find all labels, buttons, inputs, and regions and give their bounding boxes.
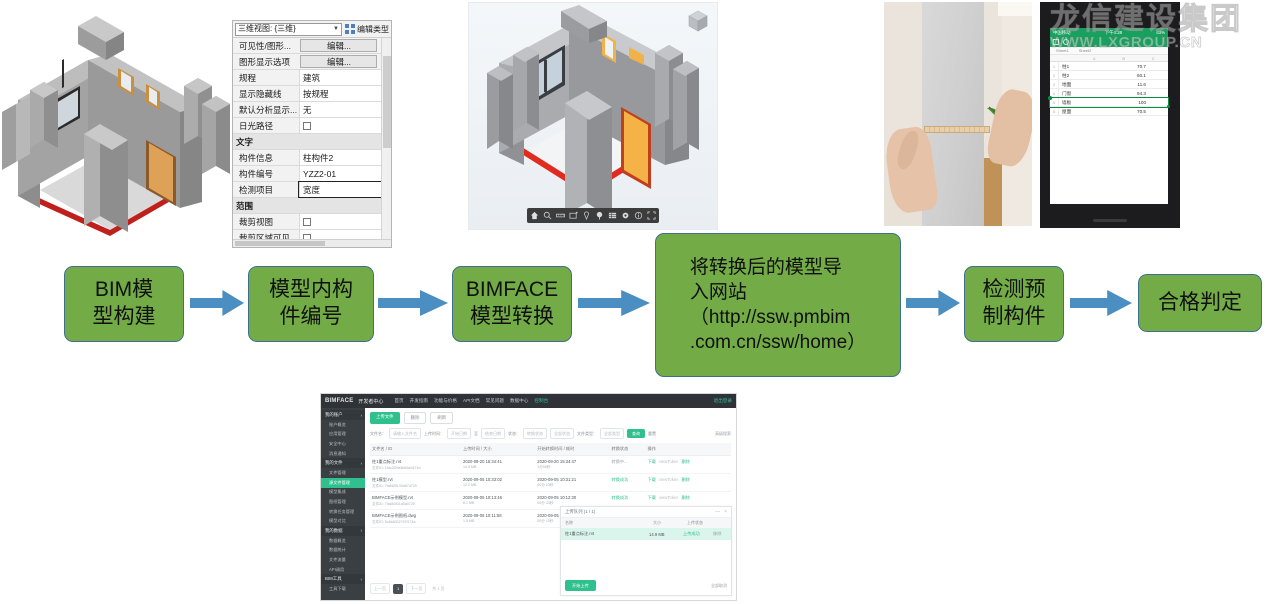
sidebar-item-19[interactable]: 工具下载: [321, 584, 365, 594]
property-label: 可见性/图形...: [233, 38, 299, 53]
filter-input-6[interactable]: 结束日期: [481, 428, 505, 439]
filter-label-1: 文件名：: [370, 431, 386, 437]
status-badge: 转换中...: [610, 456, 646, 474]
action-link-1[interactable]: 下载: [648, 459, 656, 464]
cell-converted: 2020-09-05 10:31:2100分 23秒: [535, 474, 609, 492]
section-label: 范围: [236, 200, 253, 212]
view-selector-dropdown[interactable]: 三维视图: {三维} ▼: [235, 23, 342, 36]
status-battery: 83%: [1156, 30, 1165, 35]
flow-step-2: 模型内构 件编号: [248, 266, 374, 342]
filter-label-3: 上传时间：: [424, 431, 444, 437]
bimface-3d-viewer[interactable]: [468, 2, 718, 230]
sidebar-group-label: 我的文件: [325, 460, 343, 466]
sidebar-group-label: BIM工具: [325, 576, 342, 582]
search-icon[interactable]: [543, 211, 552, 220]
property-row-main-2[interactable]: 规程建筑: [233, 70, 391, 86]
scrollbar-thumb[interactable]: [383, 56, 391, 148]
row-number: 1: [1050, 62, 1059, 70]
cell-file: BIMFACE示例模型.rvt文件ID: 7fa683f21a5a0729: [370, 492, 461, 510]
cell-actions[interactable]: 下载viewToken删除: [646, 474, 732, 492]
status-badge: 转换成功: [610, 474, 646, 492]
row-number: 6: [1050, 107, 1059, 115]
row-label: 柱2: [1059, 71, 1093, 79]
spreadsheet-rows: 1柱170.72柱260.13地面11.64门窗94.35墙板1006屋面70.…: [1050, 62, 1168, 116]
property-label: 构件信息: [233, 150, 299, 165]
sidebar-item-5[interactable]: 消息通知: [321, 449, 365, 459]
upload-table-header: 名称 大小 上传状态: [561, 518, 731, 528]
sidebar-item-7[interactable]: 文件管理: [321, 468, 365, 478]
sidebar-item-11[interactable]: 转换任务管理: [321, 507, 365, 517]
site-nav-item-6[interactable]: 数据中心: [510, 398, 528, 404]
edit-type-label: 编辑类型: [357, 24, 389, 35]
revit-properties-panel[interactable]: 三维视图: {三维} ▼ 编辑类型 可见性/图形...编辑...图形显示选项编辑…: [232, 20, 392, 248]
grid-icon: [345, 24, 355, 34]
upload-panel-header: 上传队列 (1 / 1) — ×: [561, 507, 731, 518]
section-label: 文字: [236, 136, 253, 148]
row-number: 5: [1050, 98, 1059, 106]
tape-measure-band: [924, 126, 990, 133]
property-value[interactable]: 按规程: [299, 86, 391, 101]
chevron-down-icon[interactable]: ›: [361, 528, 362, 533]
phone-status-bar: 中国移动 下午4:38 83%: [1050, 28, 1168, 37]
filter-input-11[interactable]: 全部类型: [600, 428, 624, 439]
table-header-1: 文件名 / ID: [370, 443, 461, 456]
flow-step-label: 检测预 制构件: [983, 277, 1046, 331]
sidebar-item-17[interactable]: API调用: [321, 565, 365, 575]
properties-rows: 可见性/图形...编辑...图形显示选项编辑...规程建筑显示隐藏线按规程默认分…: [233, 38, 391, 248]
logout-link[interactable]: 退出登录: [714, 398, 732, 404]
close-icon[interactable]: ×: [724, 509, 727, 515]
spreadsheet-appbar[interactable]: [1050, 37, 1168, 47]
cell-file: 柱1模型.rvt文件ID: 7fa683f139d87d729: [370, 474, 461, 492]
slide-canvas: 三维视图: {三维} ▼ 编辑类型 可见性/图形...编辑...图形显示选项编辑…: [0, 0, 1269, 604]
reset-link[interactable]: 重置: [648, 431, 656, 437]
property-value[interactable]: [299, 214, 391, 229]
flow-step-4: 将转换后的模型导 入网站 （http://ssw.pmbim .com.cn/s…: [655, 233, 901, 377]
site-button-1[interactable]: 上传文件: [370, 412, 400, 424]
property-value[interactable]: [299, 118, 391, 133]
property-value[interactable]: 柱构件2: [299, 150, 391, 165]
chevron-down-icon: ▼: [333, 23, 339, 35]
home-indicator: [1093, 219, 1127, 222]
cell-uploaded: 2020-09-05 10:13:466.1 MB: [461, 492, 535, 510]
upload-file-status: 上传成功: [683, 531, 713, 537]
action-link-1[interactable]: 下载: [648, 495, 656, 500]
property-section-range[interactable]: 范围≈: [233, 198, 391, 214]
fullscreen-icon[interactable]: [647, 211, 656, 220]
spreadsheet-row[interactable]: 1柱170.7: [1050, 62, 1168, 71]
col-head-1: A: [1080, 55, 1110, 61]
grid-icon[interactable]: [608, 211, 617, 220]
home-icon[interactable]: [530, 211, 539, 220]
sidebar-item-14[interactable]: 数据概览: [321, 536, 365, 546]
upload-file-size: 14.9 MB: [649, 532, 683, 537]
page-total: 共 1 页: [429, 584, 447, 593]
property-label: 图形显示选项: [233, 54, 299, 69]
filter-label-5: 至: [474, 431, 478, 437]
sidebar-item-9[interactable]: 模型集成: [321, 488, 365, 498]
table-header-5: 操作: [646, 443, 732, 456]
cell-uploaded: 2020-09-05 10:11:581.5 MB: [461, 510, 535, 528]
filter-input-9[interactable]: 全部状态: [550, 428, 574, 439]
properties-hscrollbar[interactable]: [233, 239, 391, 247]
property-edit-button[interactable]: 编辑...: [300, 55, 377, 68]
measure-icon[interactable]: [556, 211, 565, 220]
site-nav-item-3[interactable]: 功能与价格: [434, 398, 457, 404]
filter-input-4[interactable]: 开始日期: [447, 428, 471, 439]
property-label: 检测项目: [233, 182, 299, 197]
site-nav-item-1[interactable]: 首页: [394, 398, 403, 404]
property-label: 裁剪视图: [233, 214, 299, 229]
pagination[interactable]: 上一页 1 下一页 共 1 页: [370, 583, 448, 594]
flow-arrow-4: [906, 288, 960, 318]
property-edit-button[interactable]: 编辑...: [300, 39, 377, 52]
photo-ceiling: [998, 2, 1032, 16]
upload-remove-link[interactable]: 移除: [713, 531, 727, 537]
flow-step-label: BIMFACE 模型转换: [466, 277, 558, 331]
flow-arrow-3: [578, 288, 650, 318]
marker-icon[interactable]: [582, 211, 591, 220]
site-button-3[interactable]: 刷新: [430, 412, 453, 424]
property-row-text-1[interactable]: 构件编号YZZ2-01: [233, 166, 391, 182]
cell-uploaded: 2020-09-05 10:33:0212.2 MB: [461, 474, 535, 492]
spreadsheet-row[interactable]: 2柱260.1: [1050, 71, 1168, 80]
sheet-tabs[interactable]: Sheet1 Sheet2: [1050, 47, 1168, 55]
site-button-2[interactable]: 删除: [404, 412, 427, 424]
property-row-main-3[interactable]: 显示隐藏线按规程: [233, 86, 391, 102]
flow-step-label: 将转换后的模型导 入网站 （http://ssw.pmbim .com.cn/s…: [690, 255, 866, 355]
property-label: 日光路径: [233, 118, 299, 133]
cell-actions[interactable]: 下载viewToken删除: [646, 456, 732, 474]
sidebar-item-15[interactable]: 数据统计: [321, 546, 365, 556]
column-headers: A B C: [1050, 55, 1168, 62]
cancel-all-link[interactable]: 全部取消: [711, 583, 727, 589]
undo-icon[interactable]: [1063, 39, 1069, 45]
row-value: 70.7: [1093, 62, 1168, 70]
sidebar-item-10[interactable]: 图纸管理: [321, 497, 365, 507]
row-label: 门窗: [1059, 89, 1093, 97]
pin-icon[interactable]: [595, 211, 604, 220]
screen-glare: [1071, 137, 1144, 161]
col-head-0: [1050, 55, 1080, 61]
row-value: 70.5: [1093, 107, 1168, 115]
page-next[interactable]: 下一页: [406, 583, 426, 594]
gear-icon[interactable]: [621, 211, 630, 220]
property-row-main-0[interactable]: 可见性/图形...编辑...: [233, 38, 391, 54]
table-row[interactable]: 柱1模型.rvt文件ID: 7fa683f139d87d7292020-09-0…: [370, 474, 731, 492]
row-number: 2: [1050, 71, 1059, 79]
upload-col-size: 大小: [653, 520, 687, 526]
property-value[interactable]: 宽度: [299, 182, 391, 197]
start-upload-button[interactable]: 开始上传: [565, 580, 596, 591]
site-header: BIMFACE 开发者中心 首页开发指南功能与价格API文档常见问题数据中心控制…: [321, 394, 736, 408]
sheet-tab-2[interactable]: Sheet2: [1079, 48, 1092, 53]
flow-step-6: 合格判定: [1138, 274, 1262, 332]
box-select-icon[interactable]: [569, 211, 578, 220]
page-prev[interactable]: 上一页: [370, 583, 390, 594]
upload-file-name: 柱1重点标注.rvt: [565, 531, 649, 537]
action-link-2[interactable]: viewToken: [659, 495, 679, 500]
table-row[interactable]: 柱1重点标注.rvt文件ID: 1fdc2f09e8b46e5474d2020-…: [370, 456, 731, 474]
chevron-down-icon[interactable]: ›: [361, 413, 362, 418]
property-value[interactable]: 建筑: [299, 70, 391, 85]
action-link-3[interactable]: 删除: [681, 495, 689, 500]
site-nav-item-4[interactable]: API文档: [463, 398, 480, 404]
sidebar-group-18[interactable]: BIM工具›: [321, 574, 365, 584]
sidebar-item-3[interactable]: 应用管理: [321, 430, 365, 440]
site-nav-console[interactable]: 控制台: [534, 398, 548, 404]
sidebar-item-16[interactable]: 文件流量: [321, 555, 365, 565]
action-link-2[interactable]: viewToken: [659, 477, 679, 482]
properties-body: 可见性/图形...编辑...图形显示选项编辑...规程建筑显示隐藏线按规程默认分…: [233, 38, 391, 248]
action-link-3[interactable]: 删除: [681, 477, 689, 482]
phone-screen: 中国移动 下午4:38 83% Sheet1 Sheet2 A B C 1柱17…: [1050, 28, 1168, 204]
upload-panel-title: 上传队列 (1 / 1): [565, 509, 595, 515]
spreadsheet-row[interactable]: 4门窗94.3: [1050, 89, 1168, 98]
col-head-2: B: [1109, 55, 1139, 61]
status-carrier: 中国移动: [1053, 30, 1071, 36]
property-checkbox[interactable]: [303, 218, 311, 226]
site-main: 上传文件删除刷新 文件名：请输入文件名上传时间：开始日期至结束日期状态：转换状态…: [365, 408, 736, 600]
table-header-row: 文件名 / ID上传时间 / 大小开始转换时间 / 耗时转换状态操作: [370, 443, 731, 456]
site-logo[interactable]: BIMFACE: [325, 398, 353, 404]
upload-panel-footer: 开始上传 全部取消: [561, 576, 731, 595]
properties-scrollbar[interactable]: [381, 38, 391, 248]
property-row-main-4[interactable]: 默认分析显示...无: [233, 102, 391, 118]
table-header-4: 转换状态: [610, 443, 646, 456]
row-label: 地面: [1059, 80, 1093, 88]
property-section-text[interactable]: 文字≈: [233, 134, 391, 150]
row-value: 11.6: [1093, 80, 1168, 88]
action-link-2[interactable]: viewToken: [659, 459, 679, 464]
viewer-building-svg: [469, 3, 719, 231]
spreadsheet-row[interactable]: 5墙板100: [1050, 98, 1168, 107]
property-row-main-1[interactable]: 图形显示选项编辑...: [233, 54, 391, 70]
cell-converted: 2020-09-20 15:34:471分06秒: [535, 456, 609, 474]
upload-panel-controls[interactable]: — ×: [715, 509, 727, 515]
flow-step-label: 合格判定: [1158, 290, 1242, 317]
filter-input-2[interactable]: 请输入文件名: [389, 428, 421, 439]
sidebar-group-1[interactable]: 我的账户›: [321, 410, 365, 420]
viewer-toolbar[interactable]: [527, 208, 659, 223]
flow-step-3: BIMFACE 模型转换: [452, 266, 572, 342]
hscrollbar-thumb[interactable]: [235, 241, 325, 246]
isometric-building-svg: [0, 0, 232, 242]
action-link-3[interactable]: 删除: [681, 459, 689, 464]
property-checkbox[interactable]: [303, 122, 311, 130]
upload-queue-panel[interactable]: 上传队列 (1 / 1) — × 名称 大小 上传状态 柱1重点标注.rvt 1…: [560, 506, 732, 596]
site-sidebar[interactable]: 我的账户›账户概览应用管理安全中心消息通知我的文件›文件管理源文件管理模型集成图…: [321, 408, 365, 600]
sidebar-group-label: 我的账户: [325, 412, 343, 418]
col-head-3: C: [1139, 55, 1169, 61]
spreadsheet-grid[interactable]: A B C 1柱170.72柱260.13地面11.64门窗94.35墙板100…: [1050, 55, 1168, 204]
property-value[interactable]: 无: [299, 102, 391, 117]
row-value: 60.1: [1093, 71, 1168, 79]
table-header-2: 上传时间 / 大小: [461, 443, 535, 456]
revit-3d-model-image: [0, 0, 232, 242]
row-label: 屋面: [1059, 107, 1093, 115]
upload-col-status: 上传状态: [687, 520, 727, 526]
property-row-main-5[interactable]: 日光路径: [233, 118, 391, 134]
sidebar-group-6[interactable]: 我的文件›: [321, 458, 365, 468]
property-label: 规程: [233, 70, 299, 85]
property-label: 默认分析显示...: [233, 102, 299, 117]
chevron-down-icon[interactable]: ›: [361, 461, 362, 466]
sheet-tab-1[interactable]: Sheet1: [1056, 48, 1069, 53]
table-header-3: 开始转换时间 / 耗时: [535, 443, 609, 456]
status-time: 下午4:38: [1105, 30, 1122, 36]
flow-arrow-1: [190, 288, 244, 318]
info-icon[interactable]: [634, 211, 643, 220]
sidebar-item-12[interactable]: 模型对比: [321, 516, 365, 526]
view-selector-value: 三维视图: {三维}: [238, 23, 296, 35]
row-label: 柱1: [1059, 62, 1093, 70]
upload-col-name: 名称: [565, 520, 653, 526]
sidebar-item-8[interactable]: 源文件管理: [321, 478, 365, 488]
flow-arrow-5: [1070, 288, 1132, 318]
row-label: 墙板: [1059, 98, 1093, 106]
site-subtitle: 开发者中心: [358, 398, 383, 405]
property-row-range-0[interactable]: 裁剪视图: [233, 214, 391, 230]
site-nav-item-5[interactable]: 常见问题: [486, 398, 504, 404]
page-current[interactable]: 1: [393, 584, 403, 594]
property-value[interactable]: YZZ2-01: [299, 166, 391, 181]
upload-row: 柱1重点标注.rvt 14.9 MB 上传成功 移除: [561, 528, 731, 540]
spreadsheet-row[interactable]: 6屋面70.5: [1050, 107, 1168, 116]
properties-topbar: 三维视图: {三维} ▼ 编辑类型: [233, 21, 391, 38]
save-icon[interactable]: [1053, 39, 1059, 45]
cell-file: 柱1重点标注.rvt文件ID: 1fdc2f09e8b46e5474d: [370, 456, 461, 474]
edit-type-button[interactable]: 编辑类型: [345, 24, 389, 35]
advanced-search-link[interactable]: 高级搜索: [715, 431, 731, 437]
filter-label-7: 状态：: [508, 431, 520, 437]
minimize-icon[interactable]: —: [715, 509, 720, 515]
cell-file: BIMFACE示例图纸.dwg文件ID: 5c6b8302757f174a: [370, 510, 461, 528]
flow-step-label: BIM模 型构建: [93, 277, 156, 331]
row-value: 94.3: [1093, 89, 1168, 97]
sidebar-group-13[interactable]: 我的数据›: [321, 526, 365, 536]
row-number: 3: [1050, 80, 1059, 88]
site-nav[interactable]: 首页开发指南功能与价格API文档常见问题数据中心控制台: [394, 398, 548, 404]
bimface-website-screenshot[interactable]: BIMFACE 开发者中心 首页开发指南功能与价格API文档常见问题数据中心控制…: [320, 393, 737, 601]
site-toolbar[interactable]: 上传文件删除刷新: [370, 412, 731, 424]
row-value: 100: [1093, 98, 1168, 106]
search-button[interactable]: 查询: [627, 429, 645, 439]
sidebar-item-2[interactable]: 账户概览: [321, 420, 365, 430]
site-filter-bar[interactable]: 文件名：请输入文件名上传时间：开始日期至结束日期状态：转换状态全部状态文件类型：…: [370, 428, 731, 439]
flow-arrow-2: [378, 288, 448, 318]
filter-input-8[interactable]: 转换状态: [523, 428, 547, 439]
property-label: 构件编号: [233, 166, 299, 181]
chevron-down-icon[interactable]: ›: [361, 577, 362, 582]
flow-step-label: 模型内构 件编号: [269, 277, 353, 331]
sidebar-group-label: 我的数据: [325, 528, 343, 534]
flow-step-1: BIM模 型构建: [64, 266, 184, 342]
flow-step-5: 检测预 制构件: [964, 266, 1064, 342]
wall-measurement-photo: [884, 2, 1032, 226]
property-row-text-0[interactable]: 构件信息柱构件2: [233, 150, 391, 166]
view-cube[interactable]: [685, 8, 711, 34]
property-label: 显示隐藏线: [233, 86, 299, 101]
site-nav-item-2[interactable]: 开发指南: [410, 398, 428, 404]
action-link-1[interactable]: 下载: [648, 477, 656, 482]
cell-uploaded: 2020-09-20 15:34:4114.9 MB: [461, 456, 535, 474]
sidebar-item-4[interactable]: 安全中心: [321, 439, 365, 449]
spreadsheet-row[interactable]: 3地面11.6: [1050, 80, 1168, 89]
site-body: 我的账户›账户概览应用管理安全中心消息通知我的文件›文件管理源文件管理模型集成图…: [321, 408, 736, 600]
filter-label-10: 文件类型：: [577, 431, 597, 437]
phone-spreadsheet-photo: 中国移动 下午4:38 83% Sheet1 Sheet2 A B C 1柱17…: [1040, 2, 1180, 228]
property-row-text-2[interactable]: 检测项目宽度: [233, 182, 391, 198]
